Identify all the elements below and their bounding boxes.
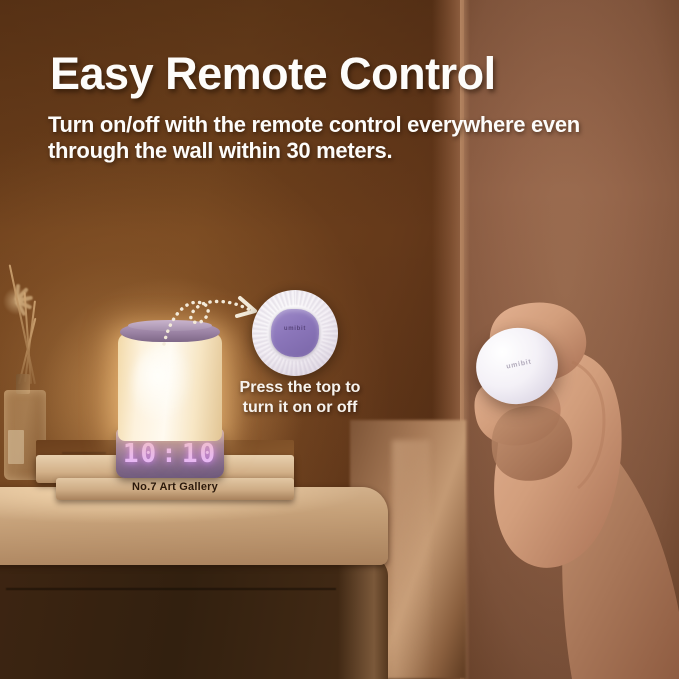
lamp-clock-display: 10 : 10 xyxy=(116,436,224,472)
callout-remote-brand: umibit xyxy=(271,326,319,332)
clock-separator: : xyxy=(161,439,179,469)
diffuser-label xyxy=(8,430,24,464)
page-title: Easy Remote Control xyxy=(50,48,496,100)
callout-caption-line-1: Press the top to xyxy=(215,378,385,398)
nightstand-drawer-seam xyxy=(6,588,336,590)
nightstand-body xyxy=(0,556,388,679)
blanket-fold-highlight xyxy=(392,440,430,679)
callout-caption: Press the top to turn it on or off xyxy=(215,378,385,417)
clock-hours: 10 xyxy=(123,439,158,469)
callout-remote-power-button[interactable] xyxy=(271,309,319,357)
product-marketing-image: No.7 Art Gallery 10 : 10 umibit xyxy=(0,0,679,679)
page-subtitle: Turn on/off with the remote control ever… xyxy=(48,112,608,163)
nightstand-body-edge xyxy=(338,556,388,679)
book-lower-title: No.7 Art Gallery xyxy=(56,481,294,493)
callout-caption-line-2: turn it on or off xyxy=(215,398,385,418)
lamp-shade-hotspot xyxy=(132,345,194,425)
clock-minutes: 10 xyxy=(182,439,217,469)
